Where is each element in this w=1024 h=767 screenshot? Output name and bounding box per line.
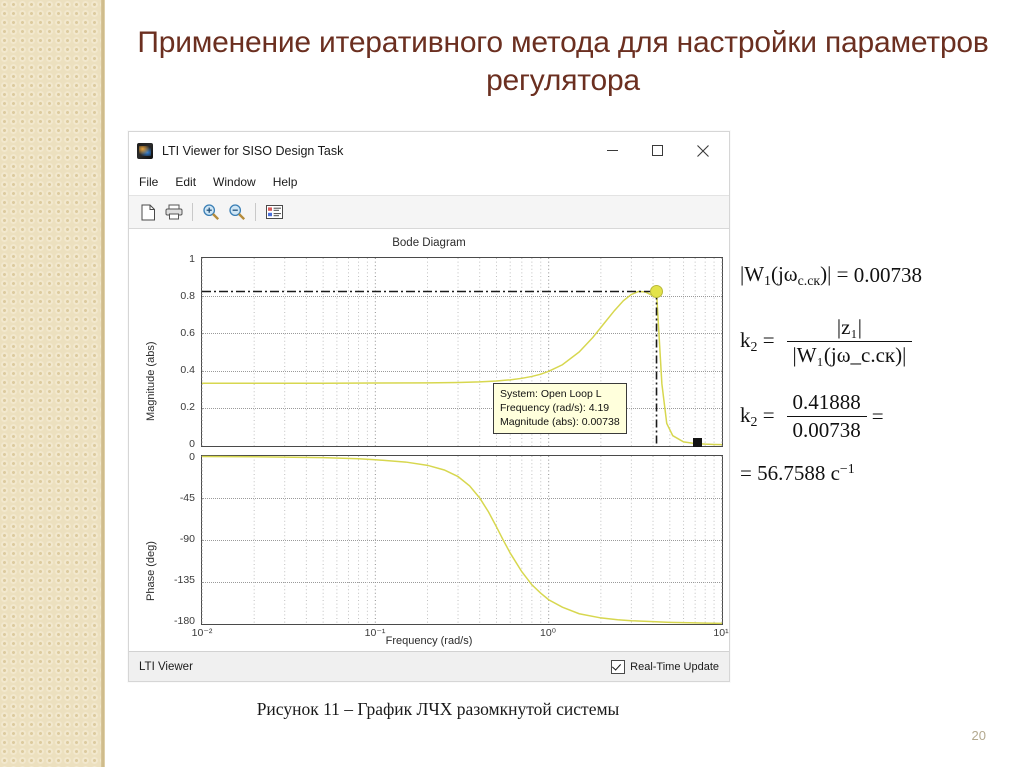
decorative-left-band [0,0,101,767]
frequency-axis-label: Frequency (rad/s) [129,635,729,647]
decorative-band-edge [101,0,105,767]
bode-plot-area: Bode Diagram Magnitude (abs) Phase (deg)… [129,229,729,651]
lti-viewer-window: LTI Viewer for SISO Design Task File Edi… [128,131,730,682]
formula-1-text: |W1(jωс.ск)| = [740,262,854,289]
formula-2-numerator: |z₁| [831,315,868,341]
print-icon[interactable] [161,200,187,224]
formula-2-denominator: |W₁(jω_с.ск)| [787,341,913,368]
formula-3-fraction: 0.41888 0.00738 [787,390,867,443]
magnitude-panel [201,257,723,447]
menu-item-edit[interactable]: Edit [175,173,207,191]
close-icon[interactable] [680,134,725,168]
mag-ytick-04: 0.4 [157,364,195,376]
page-title: Применение итеративного метода для настр… [118,24,1008,100]
phase-panel [201,455,723,625]
zoom-out-icon[interactable] [224,200,250,224]
formula-2-lhs: k2 = [740,328,775,355]
menu-item-window[interactable]: Window [213,173,267,191]
formula-k2-numeric: k2 = 0.41888 0.00738 = [740,390,1020,443]
mag-ytick-0: 0 [157,438,195,450]
datatip-tooltip: System: Open Loop L Frequency (rad/s): 4… [493,383,627,434]
figure-caption: Рисунок 11 – График ЛЧХ разомкнутой сист… [118,699,758,720]
window-titlebar: LTI Viewer for SISO Design Task [129,132,729,169]
datatip-marker[interactable] [693,438,702,447]
phase-axis-label: Phase (deg) [145,541,157,601]
toolbar [129,195,729,229]
formula-4-equals: = [740,461,757,486]
formula-4-value: 56.7588 [757,461,825,486]
magnitude-curve [202,258,722,446]
peak-marker[interactable] [650,285,663,298]
datatip-system: System: Open Loop L [500,387,620,401]
phase-ytick-180: -180 [157,615,195,627]
mag-ytick-06: 0.6 [157,327,195,339]
formula-k2-definition: k2 = |z₁| |W₁(jω_с.ск)| [740,315,1020,368]
phase-ytick-135: -135 [157,574,195,586]
slide-number: 20 [972,728,986,743]
formula-3-equals: = [872,404,884,429]
formula-2-fraction: |z₁| |W₁(jω_с.ск)| [787,315,913,368]
realtime-update-toggle[interactable]: Real-Time Update [611,660,719,674]
formula-block: |W1(jωс.ск)| = 0.00738 k2 = |z₁| |W₁(jω_… [740,262,1020,486]
properties-icon[interactable] [261,200,287,224]
formula-3-lhs: k2 = [740,403,775,430]
mag-ytick-1: 1 [157,253,195,265]
menubar: File Edit Window Help [129,169,729,195]
matlab-icon [137,143,153,159]
datatip-frequency: Frequency (rad/s): 4.19 [500,401,620,415]
formula-magnitude-value: |W1(jωс.ск)| = 0.00738 [740,262,1020,289]
maximize-icon[interactable] [635,134,680,168]
phase-ytick-0: 0 [157,451,195,463]
menu-item-file[interactable]: File [139,173,169,191]
magnitude-axis-label: Magnitude (abs) [145,342,157,422]
zoom-in-icon[interactable] [198,200,224,224]
phase-ytick-90: -90 [157,533,195,545]
mag-ytick-08: 0.8 [157,290,195,302]
mag-ytick-02: 0.2 [157,401,195,413]
minimize-icon[interactable] [590,134,635,168]
datatip-magnitude: Magnitude (abs): 0.00738 [500,415,620,429]
realtime-label: Real-Time Update [630,661,719,673]
menu-item-help[interactable]: Help [273,173,309,191]
formula-k2-result: = 56.7588 с−1 [740,461,1020,486]
formula-3-numerator: 0.41888 [787,390,867,416]
formula-1-value: 0.00738 [854,263,922,288]
new-document-icon[interactable] [135,200,161,224]
toolbar-separator-2 [255,203,256,221]
window-title: LTI Viewer for SISO Design Task [162,144,590,158]
phase-ytick-45: -45 [157,492,195,504]
chart-title: Bode Diagram [129,237,729,249]
phase-curve [202,456,722,624]
statusbar: LTI Viewer Real-Time Update [129,651,729,681]
toolbar-separator-1 [192,203,193,221]
formula-3-denominator: 0.00738 [787,416,867,443]
realtime-checkbox[interactable] [611,660,625,674]
formula-4-unit: с−1 [825,461,854,486]
status-text: LTI Viewer [139,661,611,673]
